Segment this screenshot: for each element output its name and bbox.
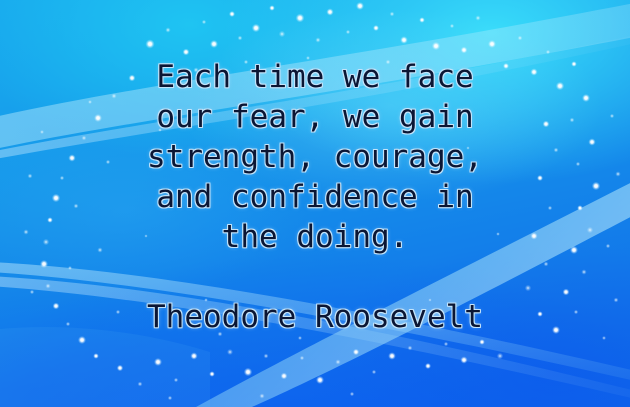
quote-line-3: strength, courage, xyxy=(0,137,630,177)
quote-text-layer: Each time we face our fear, we gain stre… xyxy=(0,0,630,407)
quote-line-2: our fear, we gain xyxy=(0,97,630,137)
quote-line-1: Each time we face xyxy=(0,57,630,97)
quote-card: Each time we face our fear, we gain stre… xyxy=(0,0,630,407)
quote-attribution: Theodore Roosevelt xyxy=(0,297,630,337)
quote-block: Each time we face our fear, we gain stre… xyxy=(0,57,630,337)
quote-attribution-spacer xyxy=(0,257,630,297)
quote-line-4: and confidence in xyxy=(0,177,630,217)
quote-line-5: the doing. xyxy=(0,217,630,257)
